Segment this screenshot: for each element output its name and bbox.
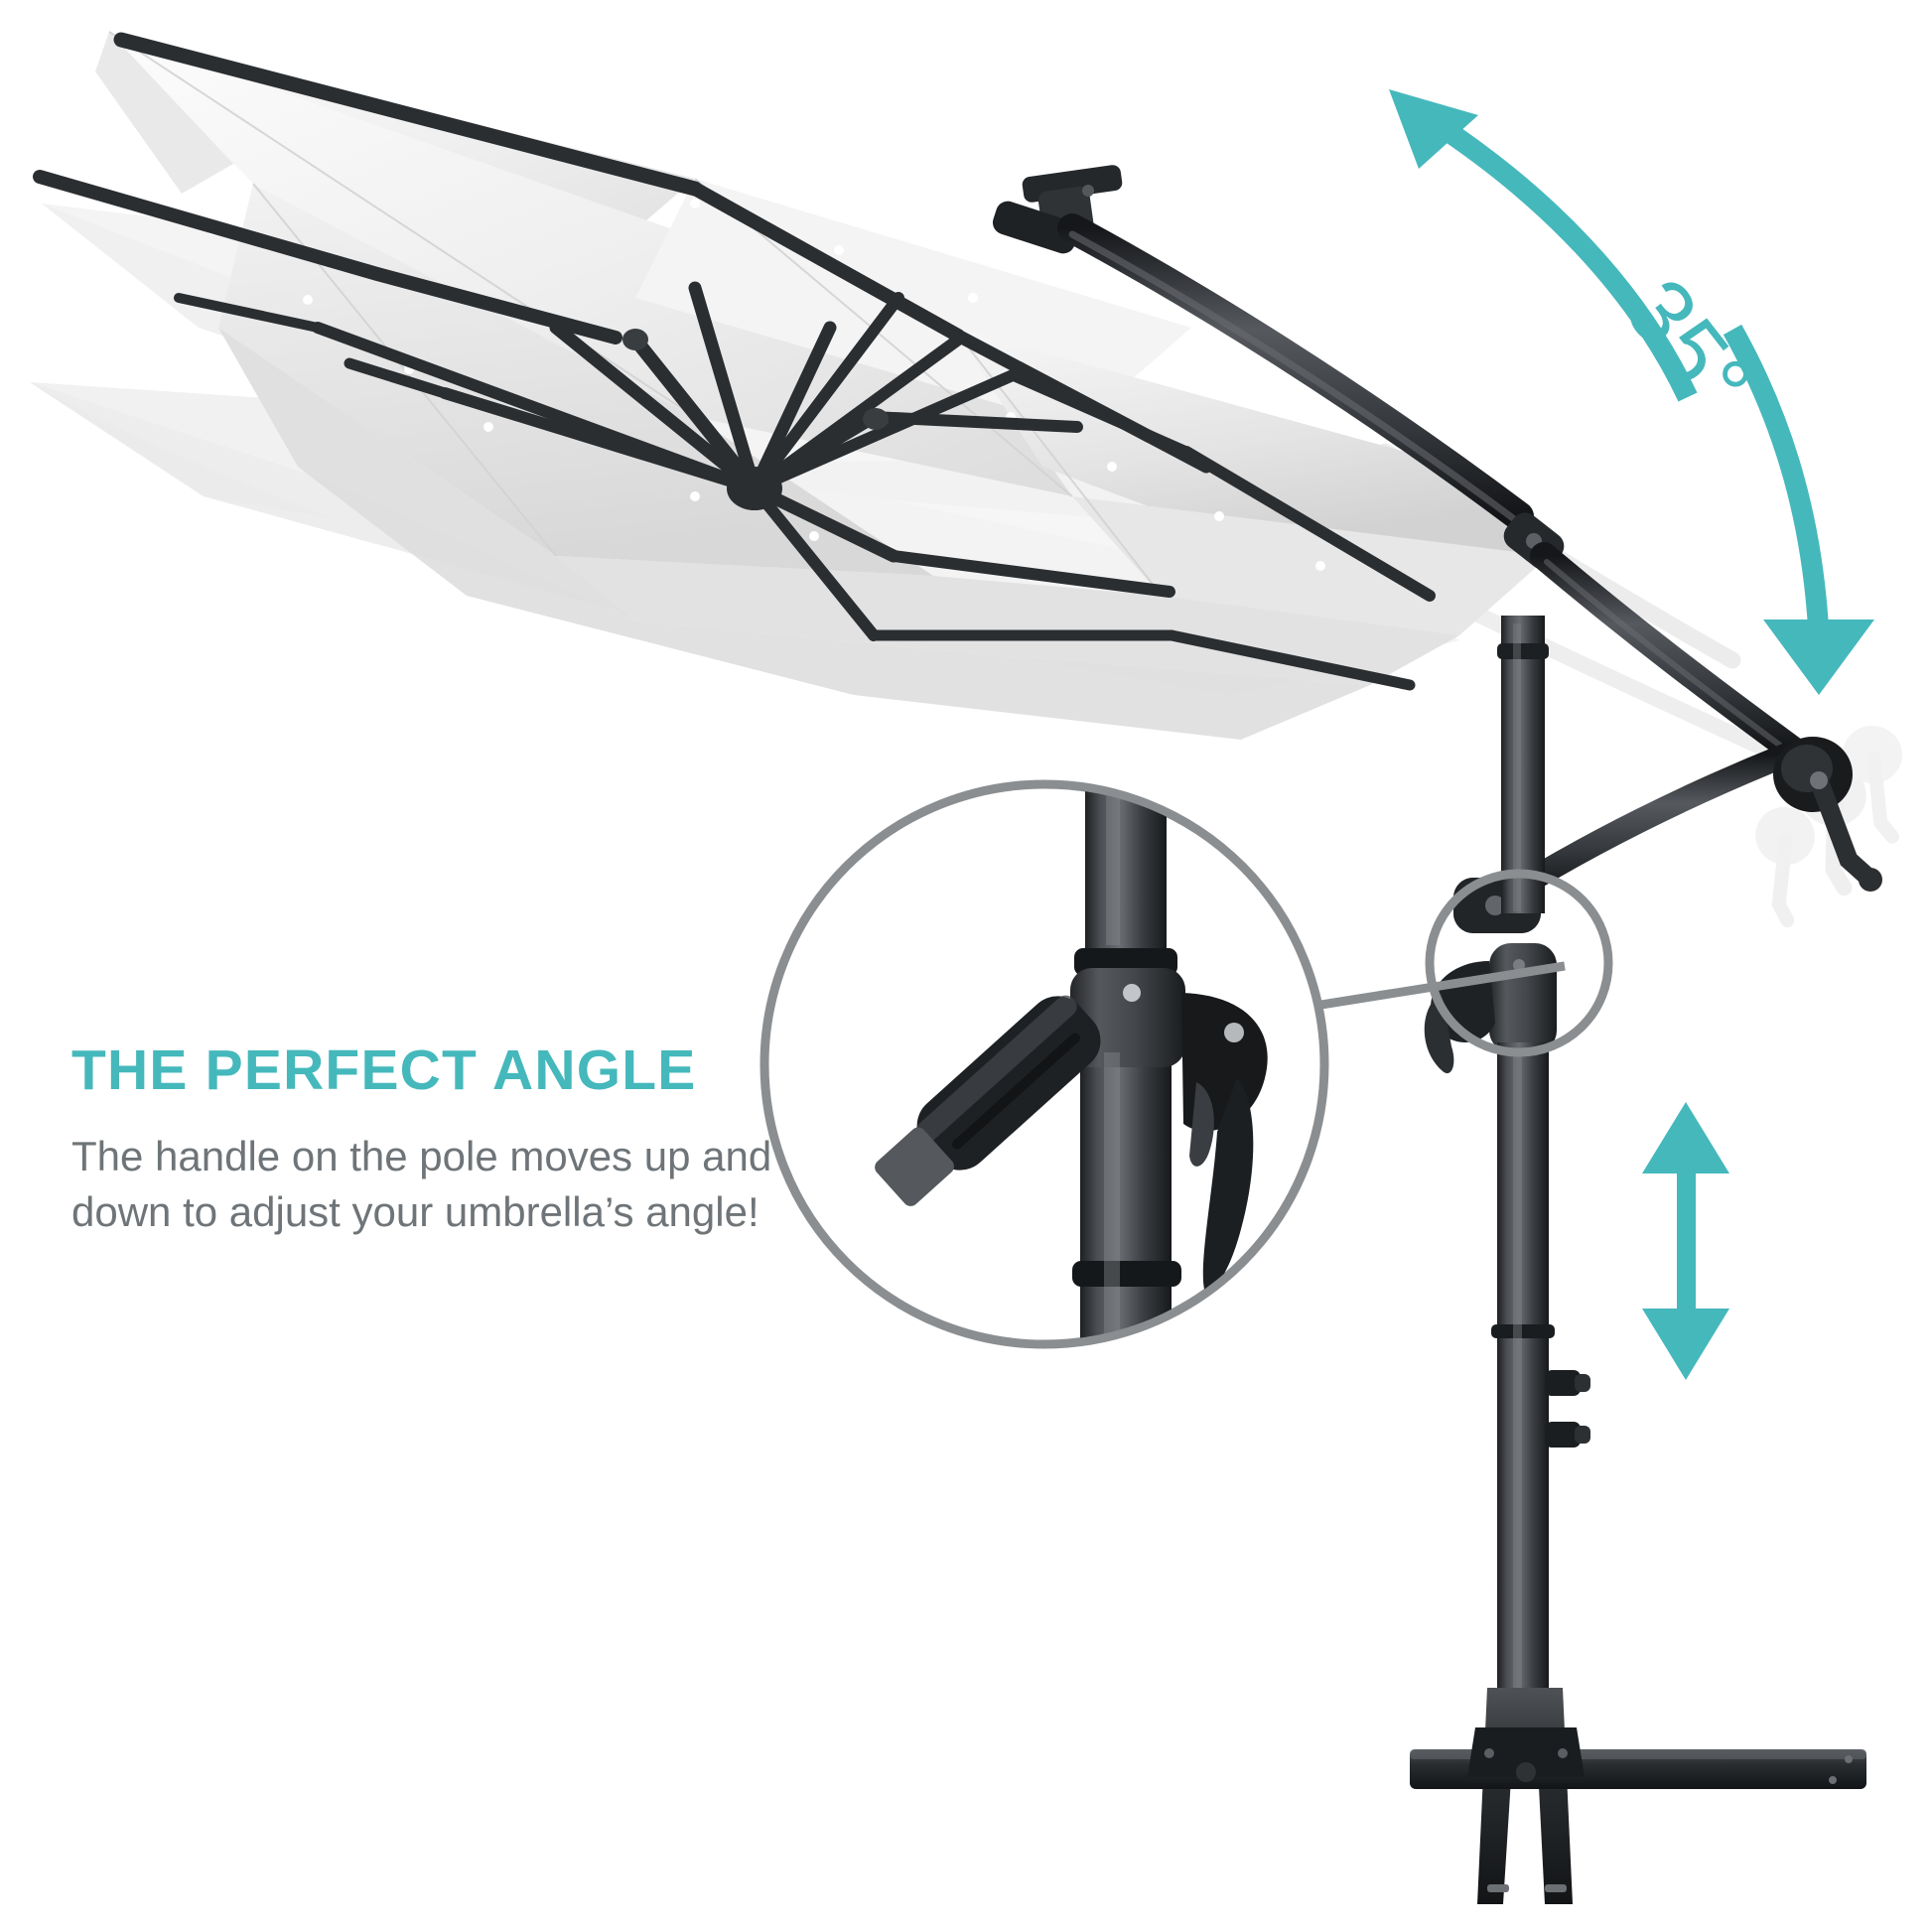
umbrella-cross-base bbox=[1410, 1688, 1866, 1904]
feature-description: The handle on the pole moves up and down… bbox=[71, 1129, 826, 1241]
product-illustration: 35° bbox=[0, 0, 1932, 1932]
feature-copy-block: THE PERFECT ANGLE The handle on the pole… bbox=[71, 1042, 896, 1241]
height-adjust-arrow bbox=[1642, 1102, 1729, 1380]
page-title: THE PERFECT ANGLE bbox=[71, 1042, 896, 1099]
product-feature-graphic: 35° THE PERFECT ANGLE The handle on the … bbox=[0, 0, 1932, 1932]
height-adjustment-knobs[interactable] bbox=[1545, 1370, 1590, 1448]
umbrella-pole bbox=[1425, 616, 1590, 1718]
